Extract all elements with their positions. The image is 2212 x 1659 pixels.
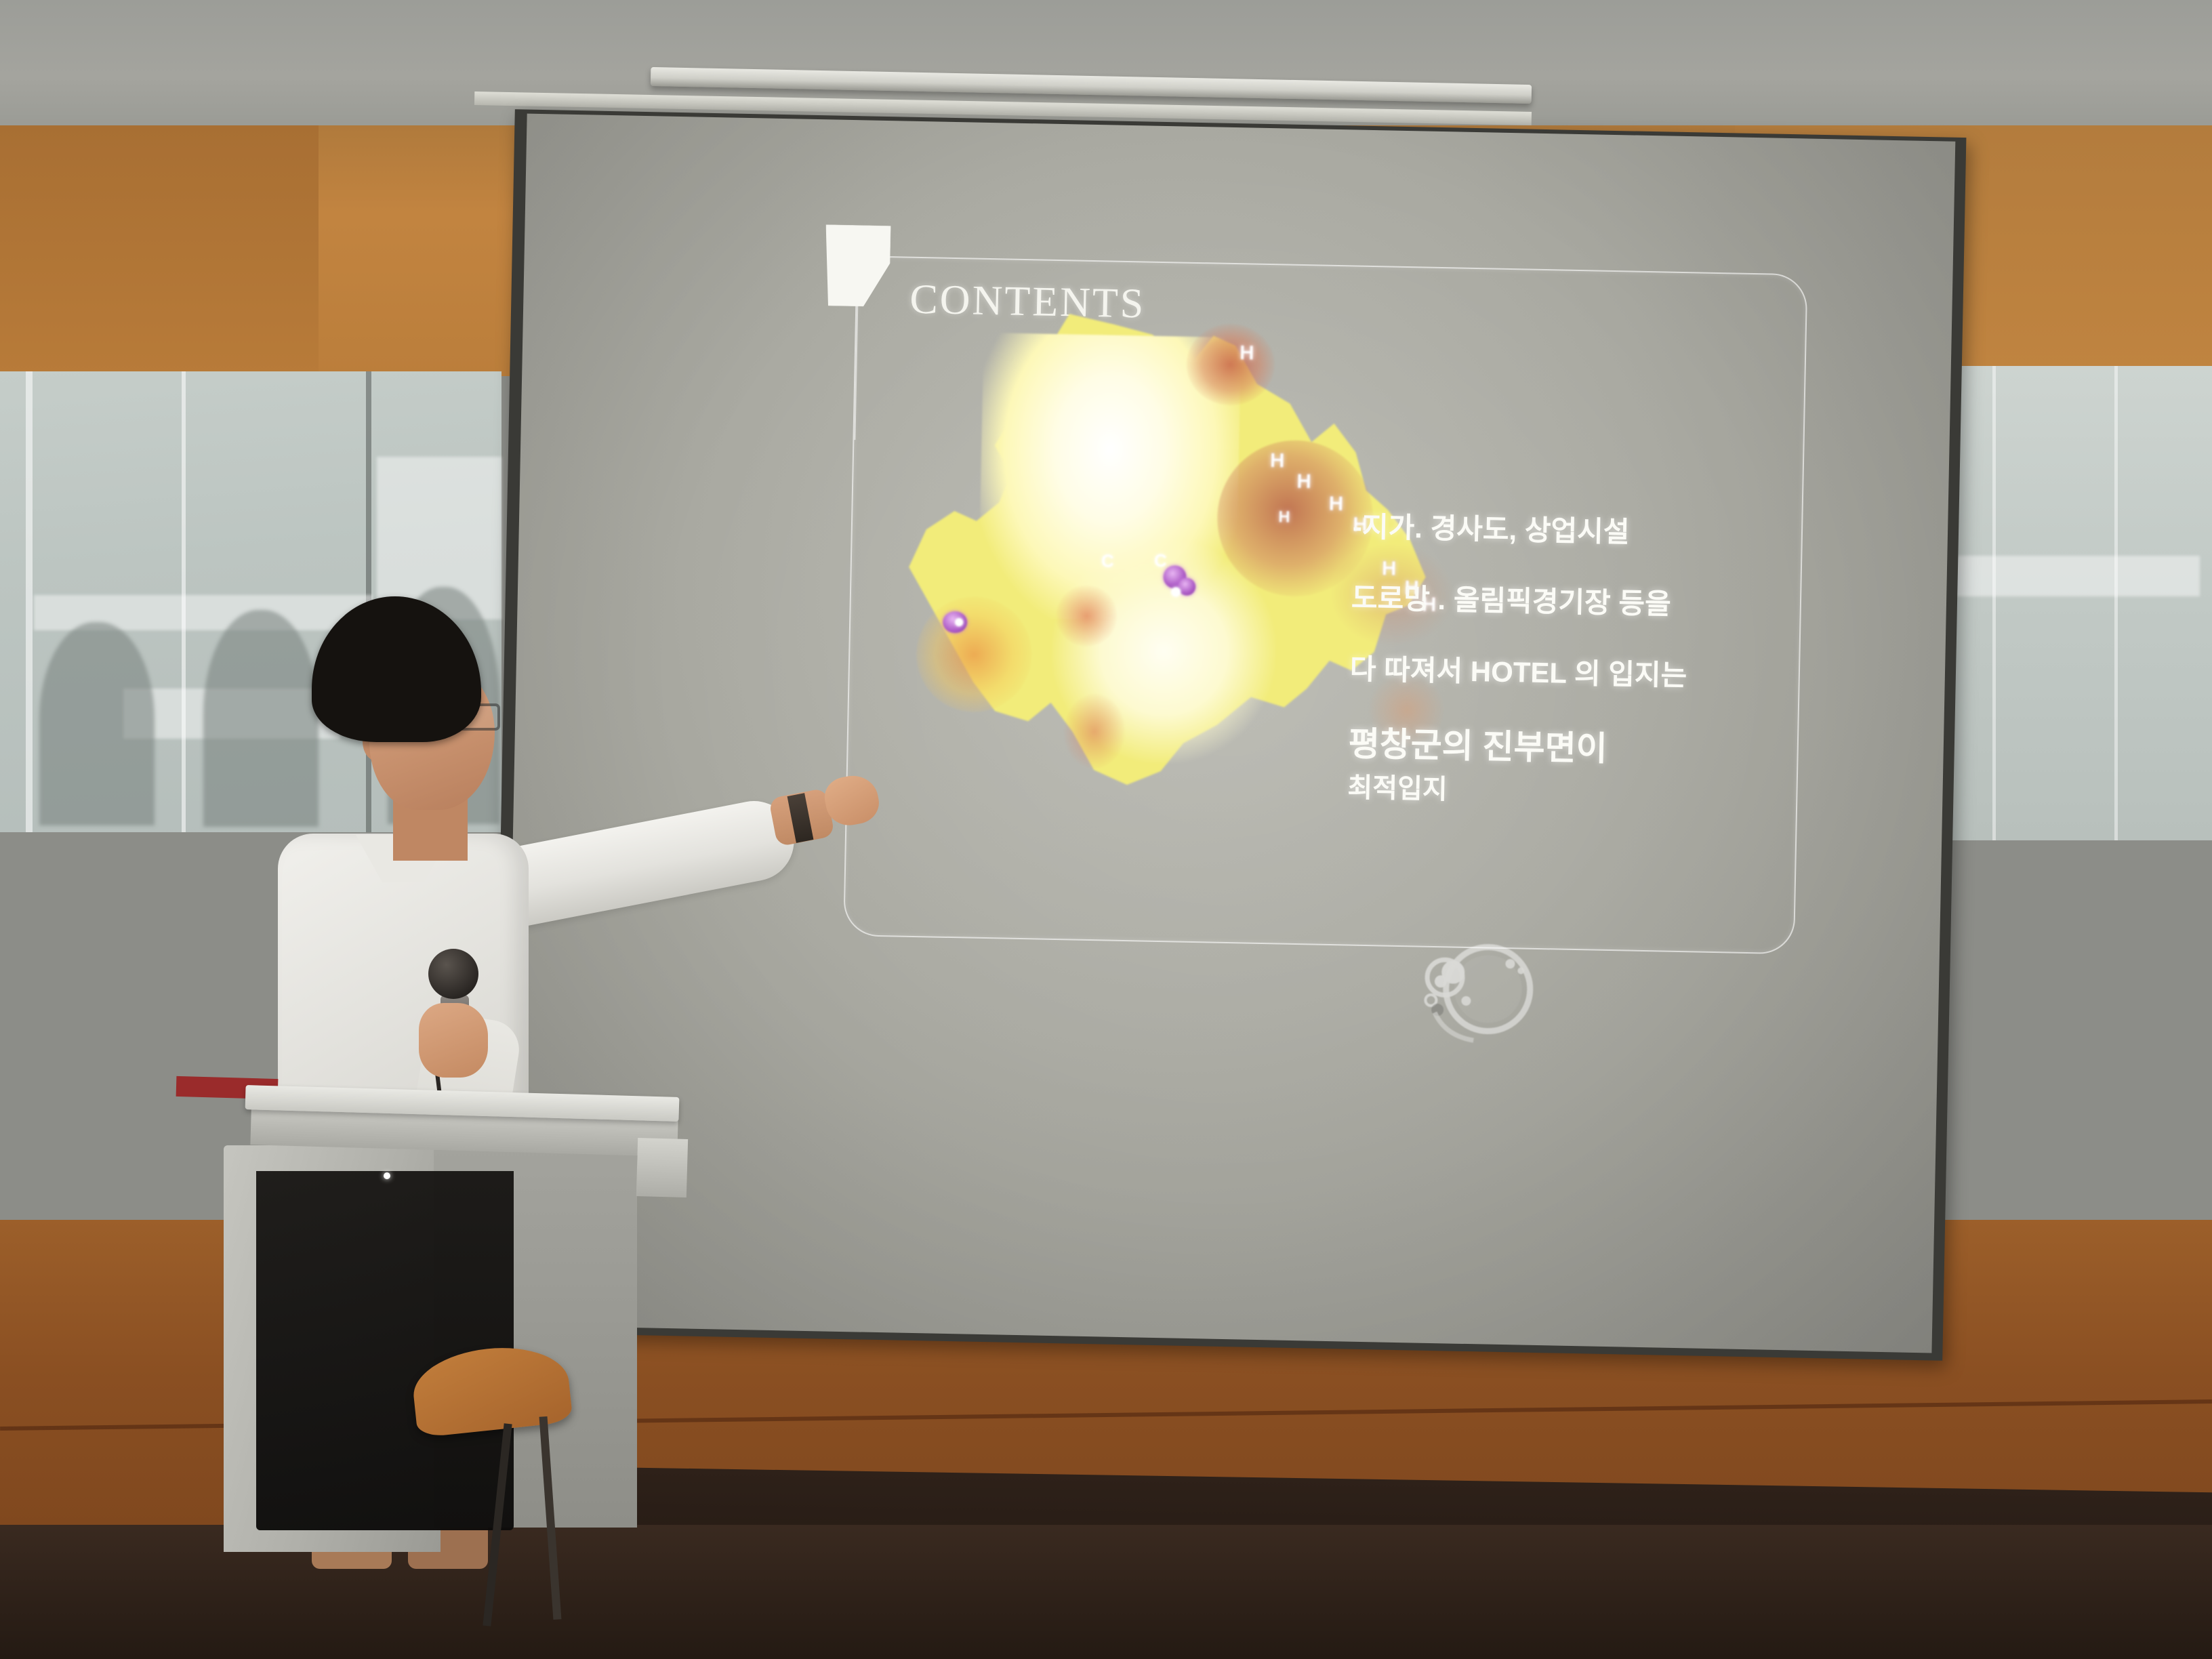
map-poi-label: C <box>1101 550 1114 571</box>
lecture-room-photo: CONTENTS H H H H <box>0 0 2212 1659</box>
hotel-marker-icon: H <box>1328 494 1343 514</box>
slide-text-line-3: 다 따져서 HOTEL 의 입지는 <box>1349 652 1729 694</box>
slide-text-line-2: 도로망 . 올림픽경기장 등을 <box>1351 581 1731 623</box>
microphone-icon <box>428 949 478 999</box>
presentation-slide: CONTENTS H H H H <box>504 114 1956 1353</box>
hotel-marker-icon: H <box>1240 343 1254 363</box>
hotel-marker-icon: H <box>1270 451 1285 471</box>
slide-text-line-4: 평창군의 진부면이 <box>1348 723 1728 772</box>
presenter-mic-hand <box>419 1003 488 1078</box>
status-indicator-led <box>384 1172 390 1179</box>
hotel-marker-icon: H <box>1296 472 1311 492</box>
chair <box>413 1349 617 1659</box>
wood-wall-panel-upper-left <box>0 125 319 376</box>
audience-silhouette <box>39 622 155 825</box>
chair-leg <box>539 1416 562 1620</box>
projection-screen: CONTENTS H H H H <box>491 109 1967 1361</box>
chair-seat <box>409 1340 573 1437</box>
map-poi-label: C <box>1154 550 1167 571</box>
presenter-hair <box>312 596 481 742</box>
bubble-circles-icon <box>1407 937 1538 1048</box>
podium-side-bracket <box>636 1138 688 1197</box>
chair-leg <box>483 1423 512 1626</box>
slide-text-line-1: -지가. 경사도, 상업시설 <box>1353 510 1733 552</box>
slide-body-text: -지가. 경사도, 상업시설 도로망 . 올림픽경기장 등을 다 따져서 HOT… <box>1347 510 1732 812</box>
hotel-marker-icon: H <box>1278 509 1290 525</box>
